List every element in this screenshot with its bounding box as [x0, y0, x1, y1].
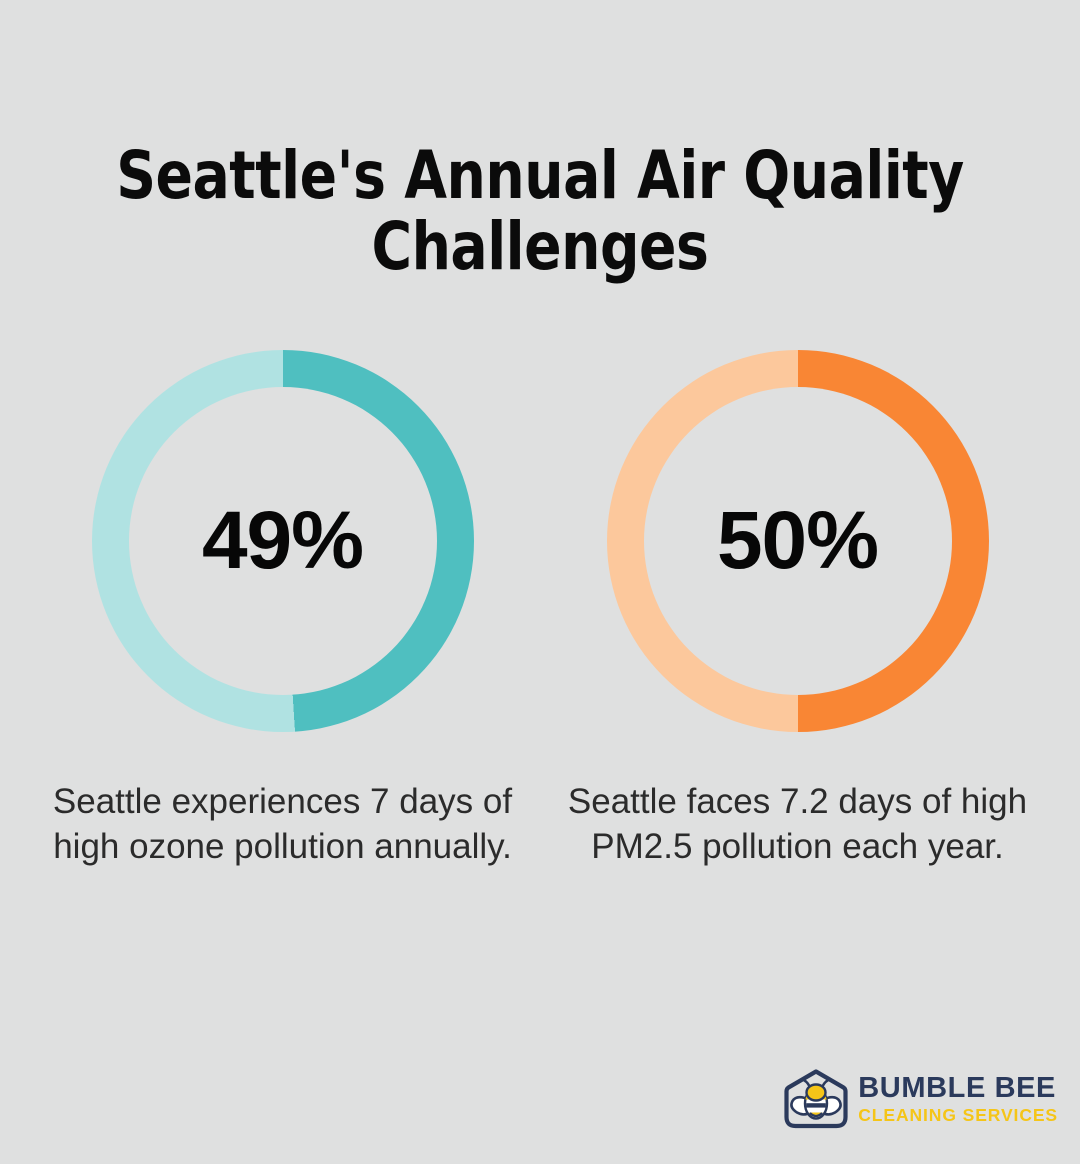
donut-chart-ozone: 49% — [92, 350, 474, 732]
stat-caption-ozone: Seattle experiences 7 days of high ozone… — [43, 780, 523, 870]
brand-logo: BUMBLE BEE CLEANING SERVICES — [783, 1068, 1058, 1130]
donut-value-pm25: 50% — [607, 350, 989, 732]
bumble-bee-house-icon — [783, 1068, 849, 1130]
page-title: Seattle's Annual Air Quality Challenges — [75, 140, 1005, 283]
stat-block-pm25: 50% Seattle faces 7.2 days of high PM2.5… — [540, 350, 1055, 870]
donut-value-ozone: 49% — [92, 350, 474, 732]
brand-logo-text: BUMBLE BEE CLEANING SERVICES — [858, 1074, 1058, 1125]
stats-row: 49% Seattle experiences 7 days of high o… — [0, 350, 1080, 870]
brand-name: BUMBLE BEE — [858, 1074, 1056, 1103]
donut-chart-pm25: 50% — [607, 350, 989, 732]
stat-block-ozone: 49% Seattle experiences 7 days of high o… — [25, 350, 540, 870]
brand-tagline: CLEANING SERVICES — [858, 1107, 1058, 1125]
stat-caption-pm25: Seattle faces 7.2 days of high PM2.5 pol… — [558, 780, 1038, 870]
infographic-canvas: Seattle's Annual Air Quality Challenges … — [0, 0, 1080, 1164]
